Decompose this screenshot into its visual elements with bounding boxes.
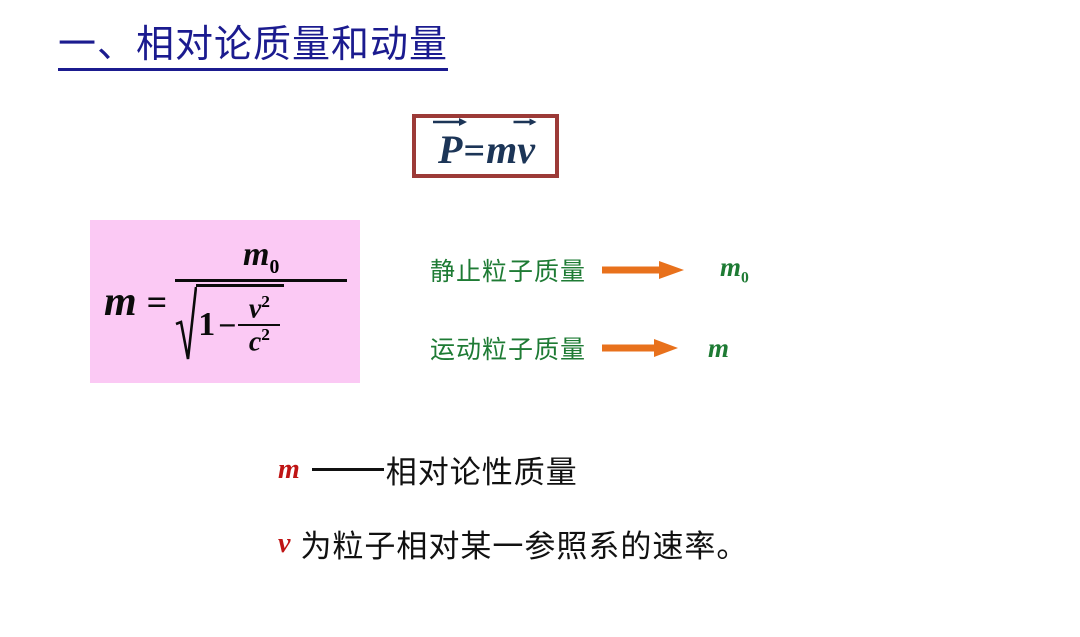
momentum-m-symbol: m (486, 130, 517, 170)
annotation-label-rest-mass: 静止粒子质量 (430, 252, 586, 288)
annotation-symbol-rest-mass: m0 (720, 252, 749, 287)
light-speed-squared: c2 (247, 326, 272, 357)
mass-denominator: 1 − v2 c2 (175, 282, 347, 362)
mass-formula: m = m0 1 − v2 (90, 220, 360, 383)
mass-numerator: m0 (175, 237, 347, 279)
mass-lhs-symbol: m (104, 281, 137, 323)
definition-dash (312, 468, 384, 471)
radicand: 1 − v2 c2 (196, 284, 284, 362)
momentum-formula: P = m v (416, 118, 555, 174)
right-arrow-icon (602, 259, 684, 281)
definition-variable-v: v (278, 528, 290, 560)
vector-arrow-icon (433, 117, 467, 127)
page-title: 一、相对论质量和动量 (58, 26, 448, 71)
annotation-row-moving-mass: 运动粒子质量 m (430, 330, 729, 366)
definition-text-relativistic-mass: 相对论性质量 (386, 447, 578, 492)
mass-equals-sign: = (147, 284, 168, 320)
vector-arrow-icon (514, 117, 537, 127)
velocity-ratio-fraction: v2 c2 (238, 293, 280, 357)
vector-p: P (438, 130, 462, 170)
velocity-squared: v2 (247, 293, 272, 324)
definition-speed: v 为粒子相对某一参照系的速率。 (278, 521, 748, 566)
definition-text-speed: 为粒子相对某一参照系的速率。 (300, 521, 748, 566)
annotation-row-rest-mass: 静止粒子质量 m0 (430, 252, 749, 288)
rest-mass-symbol: m (243, 236, 269, 273)
definition-variable-m: m (278, 454, 300, 486)
light-speed-exponent: 2 (261, 325, 270, 344)
velocity-exponent: 2 (261, 292, 270, 311)
definition-relativistic-mass: m 相对论性质量 (278, 447, 578, 492)
momentum-v-symbol: v (517, 127, 535, 172)
momentum-equals-sign: = (463, 132, 485, 170)
radicand-minus-sign: − (218, 309, 236, 341)
momentum-expression: P = m v (436, 130, 535, 174)
mass-formula-panel: m = m0 1 − v2 (90, 220, 360, 383)
annotation-label-moving-mass: 运动粒子质量 (430, 330, 586, 366)
momentum-formula-box: P = m v (412, 114, 559, 178)
velocity-symbol: v (249, 294, 261, 325)
mass-fraction: m0 1 − v2 (175, 237, 347, 362)
square-root-expression: 1 − v2 c2 (175, 284, 284, 362)
annotation-symbol-moving-mass: m (708, 333, 729, 364)
annotation-symbol-subscript: 0 (741, 270, 749, 287)
rest-mass-subscript: 0 (269, 256, 279, 278)
square-root-icon (175, 284, 197, 362)
annotation-symbol-letter: m (720, 252, 741, 282)
vector-v: v (517, 130, 535, 170)
momentum-p-symbol: P (438, 127, 462, 172)
radicand-one: 1 (198, 308, 215, 342)
right-arrow-icon (602, 337, 678, 359)
annotation-symbol-letter: m (708, 333, 729, 363)
light-speed-symbol: c (249, 327, 261, 358)
